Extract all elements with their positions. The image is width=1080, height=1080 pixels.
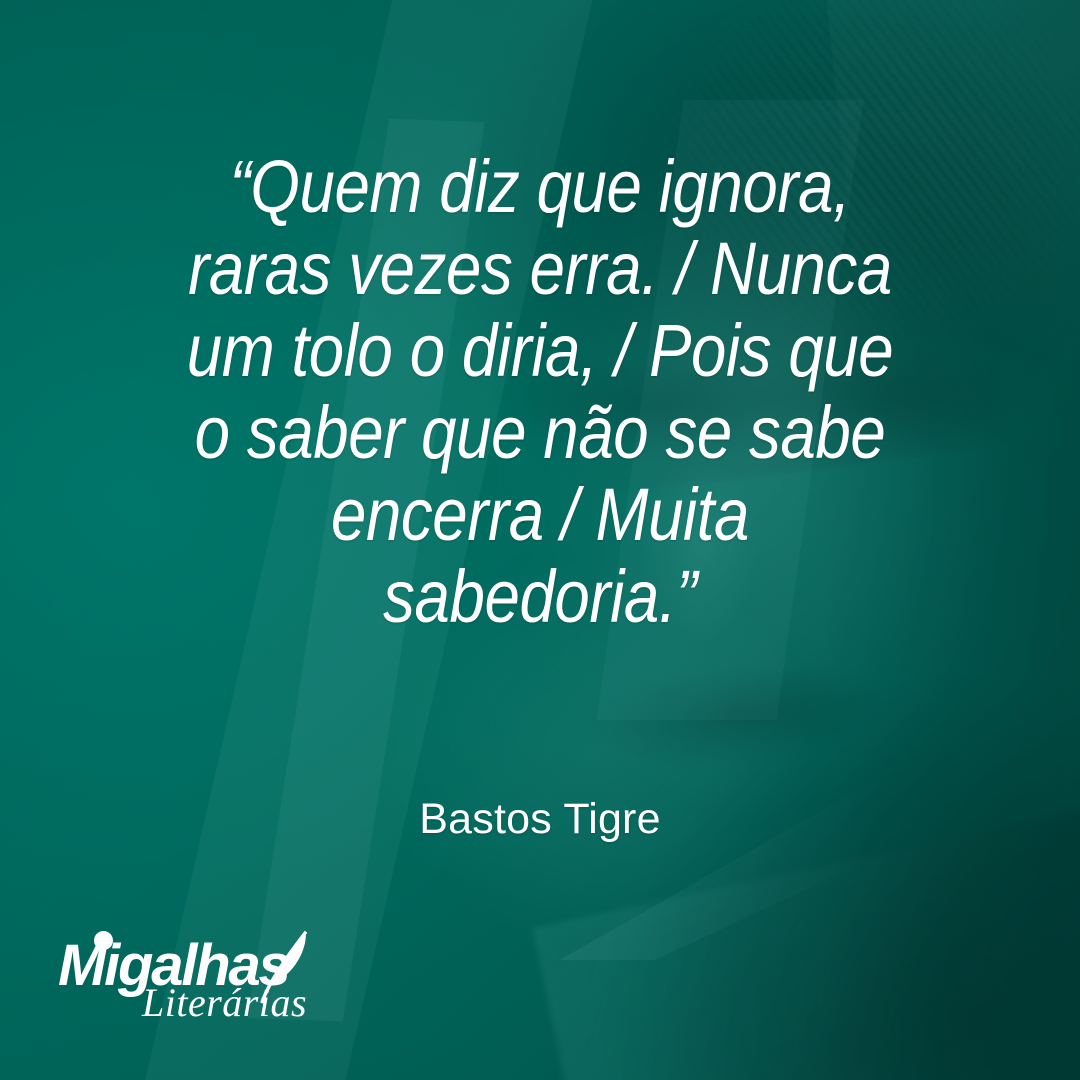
quote-text: “Quem diz que ignora, raras vezes erra. …: [127, 146, 953, 638]
logo-subtitle-text: Literárias: [142, 982, 307, 1024]
content-layer: “Quem diz que ignora, raras vezes erra. …: [0, 0, 1080, 1080]
quote-card: “Quem diz que ignora, raras vezes erra. …: [0, 0, 1080, 1080]
quote-author: Bastos Tigre: [0, 795, 1080, 844]
migalhas-literarias-logo[interactable]: Migalhas Literárias: [58, 930, 318, 1030]
